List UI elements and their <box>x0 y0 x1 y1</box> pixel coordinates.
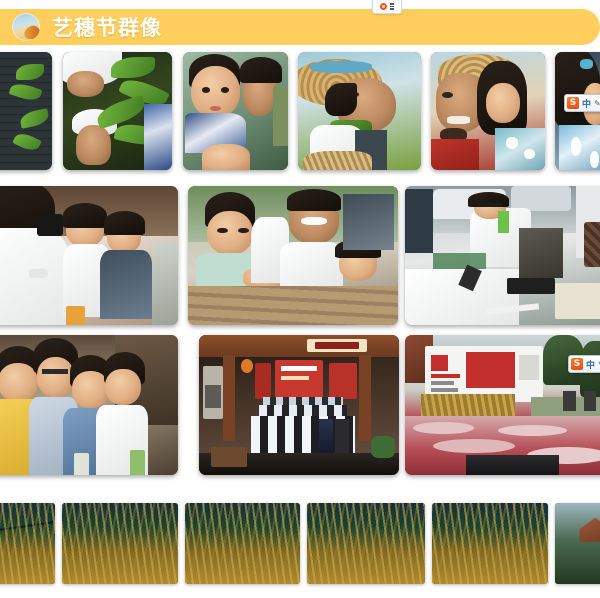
gallery-photo[interactable] <box>307 503 425 584</box>
sogou-logo-icon[interactable]: S <box>567 97 579 109</box>
photo-scene <box>188 186 398 325</box>
gallery-photo[interactable] <box>405 186 600 325</box>
gallery-photo[interactable] <box>0 186 178 325</box>
gallery-photo[interactable] <box>0 52 52 170</box>
photo-scene <box>405 186 600 325</box>
gallery-photo[interactable] <box>0 503 55 584</box>
gallery-photo[interactable] <box>432 503 548 584</box>
sogou-ime-bar-top[interactable]: S 中 ✎ <box>564 94 600 112</box>
sogou-ime-bar-bottom[interactable]: S 中 ✎ <box>568 355 600 373</box>
gallery-photo[interactable] <box>188 186 398 325</box>
photo-scene <box>0 52 52 170</box>
flower-icon[interactable] <box>380 3 387 10</box>
ime-mode-label[interactable]: 中 <box>582 97 591 110</box>
photo-scene <box>298 52 421 170</box>
photo-scene <box>183 52 288 170</box>
gallery-photo[interactable] <box>63 52 172 170</box>
photo-scene <box>185 503 300 584</box>
photo-scene <box>0 335 178 475</box>
photo-scene <box>432 503 548 584</box>
photo-scene <box>0 503 55 584</box>
gallery-photo[interactable] <box>185 503 300 584</box>
menu-dots-icon[interactable] <box>390 3 394 10</box>
photo-scene <box>555 503 600 584</box>
photo-scene <box>199 335 399 475</box>
gallery-photo[interactable] <box>0 335 178 475</box>
page-title: 艺穗节群像 <box>52 12 162 42</box>
photo-gallery <box>0 0 600 598</box>
sogou-logo-icon[interactable]: S <box>571 358 583 370</box>
browser-mini-toolbar[interactable] <box>372 0 402 14</box>
ime-tools-icon[interactable]: ✎ <box>594 99 600 108</box>
photo-scene <box>0 186 178 325</box>
page-header-banner: 艺穗节群像 <box>0 9 600 45</box>
photo-scene <box>307 503 425 584</box>
corn-thumbnail-icon <box>12 13 40 41</box>
ime-mode-label[interactable]: 中 <box>586 358 595 371</box>
photo-scene <box>62 503 178 584</box>
gallery-photo[interactable] <box>555 503 600 584</box>
house-shape <box>579 518 600 542</box>
gallery-photo[interactable] <box>199 335 399 475</box>
gallery-photo[interactable] <box>62 503 178 584</box>
gallery-photo[interactable] <box>183 52 288 170</box>
gallery-photo[interactable] <box>298 52 421 170</box>
photo-scene <box>63 52 172 170</box>
gallery-photo[interactable] <box>431 52 545 170</box>
photo-scene <box>431 52 545 170</box>
